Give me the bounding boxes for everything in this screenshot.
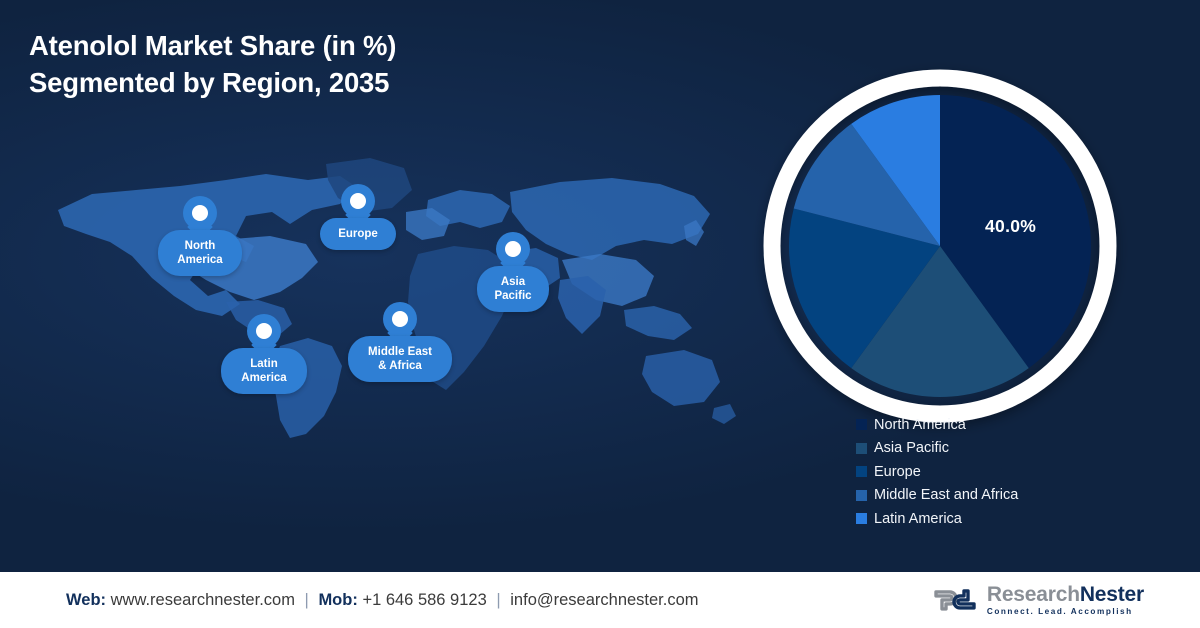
map-marker-middle-east-africa[interactable]: Middle East & Africa bbox=[348, 302, 452, 382]
footer-mob-label: Mob: bbox=[318, 591, 357, 609]
legend-swatch-icon bbox=[856, 513, 867, 524]
map-marker-europe[interactable]: Europe bbox=[320, 184, 396, 250]
map-marker-label: Latin America bbox=[221, 348, 307, 394]
footer-email[interactable]: info@researchnester.com bbox=[510, 591, 698, 609]
legend-label: North America bbox=[874, 418, 966, 433]
infographic-root: Atenolol Market Share (in %) Segmented b… bbox=[0, 0, 1200, 628]
logo-name: ResearchNester bbox=[987, 583, 1144, 606]
main-panel: Atenolol Market Share (in %) Segmented b… bbox=[0, 0, 1200, 572]
research-nester-logo[interactable]: ResearchNester Connect. Lead. Accomplish bbox=[932, 584, 1144, 616]
footer-contact: Web: www.researchnester.com | Mob: +1 64… bbox=[66, 592, 699, 609]
map-marker-asia-pacific[interactable]: Asia Pacific bbox=[477, 232, 549, 312]
pie-chart[interactable] bbox=[762, 98, 1118, 394]
map-marker-label: Europe bbox=[320, 218, 396, 250]
legend-label: Latin America bbox=[874, 512, 962, 527]
legend-item-latin-america[interactable]: Latin America bbox=[856, 507, 1018, 531]
legend-swatch-icon bbox=[856, 443, 867, 454]
logo-tagline: Connect. Lead. Accomplish bbox=[987, 608, 1144, 616]
map-marker-north-america[interactable]: North America bbox=[158, 196, 242, 276]
title-line-2: Segmented by Region, 2035 bbox=[29, 65, 396, 102]
legend-label: Europe bbox=[874, 465, 921, 480]
title-line-1: Atenolol Market Share (in %) bbox=[29, 30, 396, 61]
footer-bar: Web: www.researchnester.com | Mob: +1 64… bbox=[0, 572, 1200, 628]
map-marker-latin-america[interactable]: Latin America bbox=[221, 314, 307, 394]
legend-item-europe[interactable]: Europe bbox=[856, 460, 1018, 484]
chart-legend: North AmericaAsia PacificEuropeMiddle Ea… bbox=[856, 413, 1018, 531]
page-title: Atenolol Market Share (in %) Segmented b… bbox=[29, 28, 396, 101]
legend-item-north-america[interactable]: North America bbox=[856, 413, 1018, 437]
footer-web-value[interactable]: www.researchnester.com bbox=[111, 591, 295, 609]
footer-separator-2: | bbox=[496, 591, 500, 609]
logo-mark-icon bbox=[932, 585, 978, 615]
legend-swatch-icon bbox=[856, 466, 867, 477]
legend-label: Asia Pacific bbox=[874, 441, 949, 456]
pie-slice-value-label: 40.0% bbox=[985, 216, 1036, 237]
map-marker-label: North America bbox=[158, 230, 242, 276]
footer-mob-value[interactable]: +1 646 586 9123 bbox=[362, 591, 486, 609]
pie-slices bbox=[789, 95, 1091, 397]
logo-word-nester: Nester bbox=[1080, 583, 1144, 606]
legend-item-middle-east-and-africa[interactable]: Middle East and Africa bbox=[856, 484, 1018, 508]
logo-text: ResearchNester Connect. Lead. Accomplish bbox=[987, 584, 1144, 616]
legend-swatch-icon bbox=[856, 419, 867, 430]
map-marker-label: Middle East & Africa bbox=[348, 336, 452, 382]
legend-item-asia-pacific[interactable]: Asia Pacific bbox=[856, 437, 1018, 461]
logo-word-research: Research bbox=[987, 583, 1080, 606]
legend-swatch-icon bbox=[856, 490, 867, 501]
footer-separator-1: | bbox=[305, 591, 309, 609]
map-marker-label: Asia Pacific bbox=[477, 266, 549, 312]
footer-web-label: Web: bbox=[66, 591, 106, 609]
legend-label: Middle East and Africa bbox=[874, 488, 1018, 503]
